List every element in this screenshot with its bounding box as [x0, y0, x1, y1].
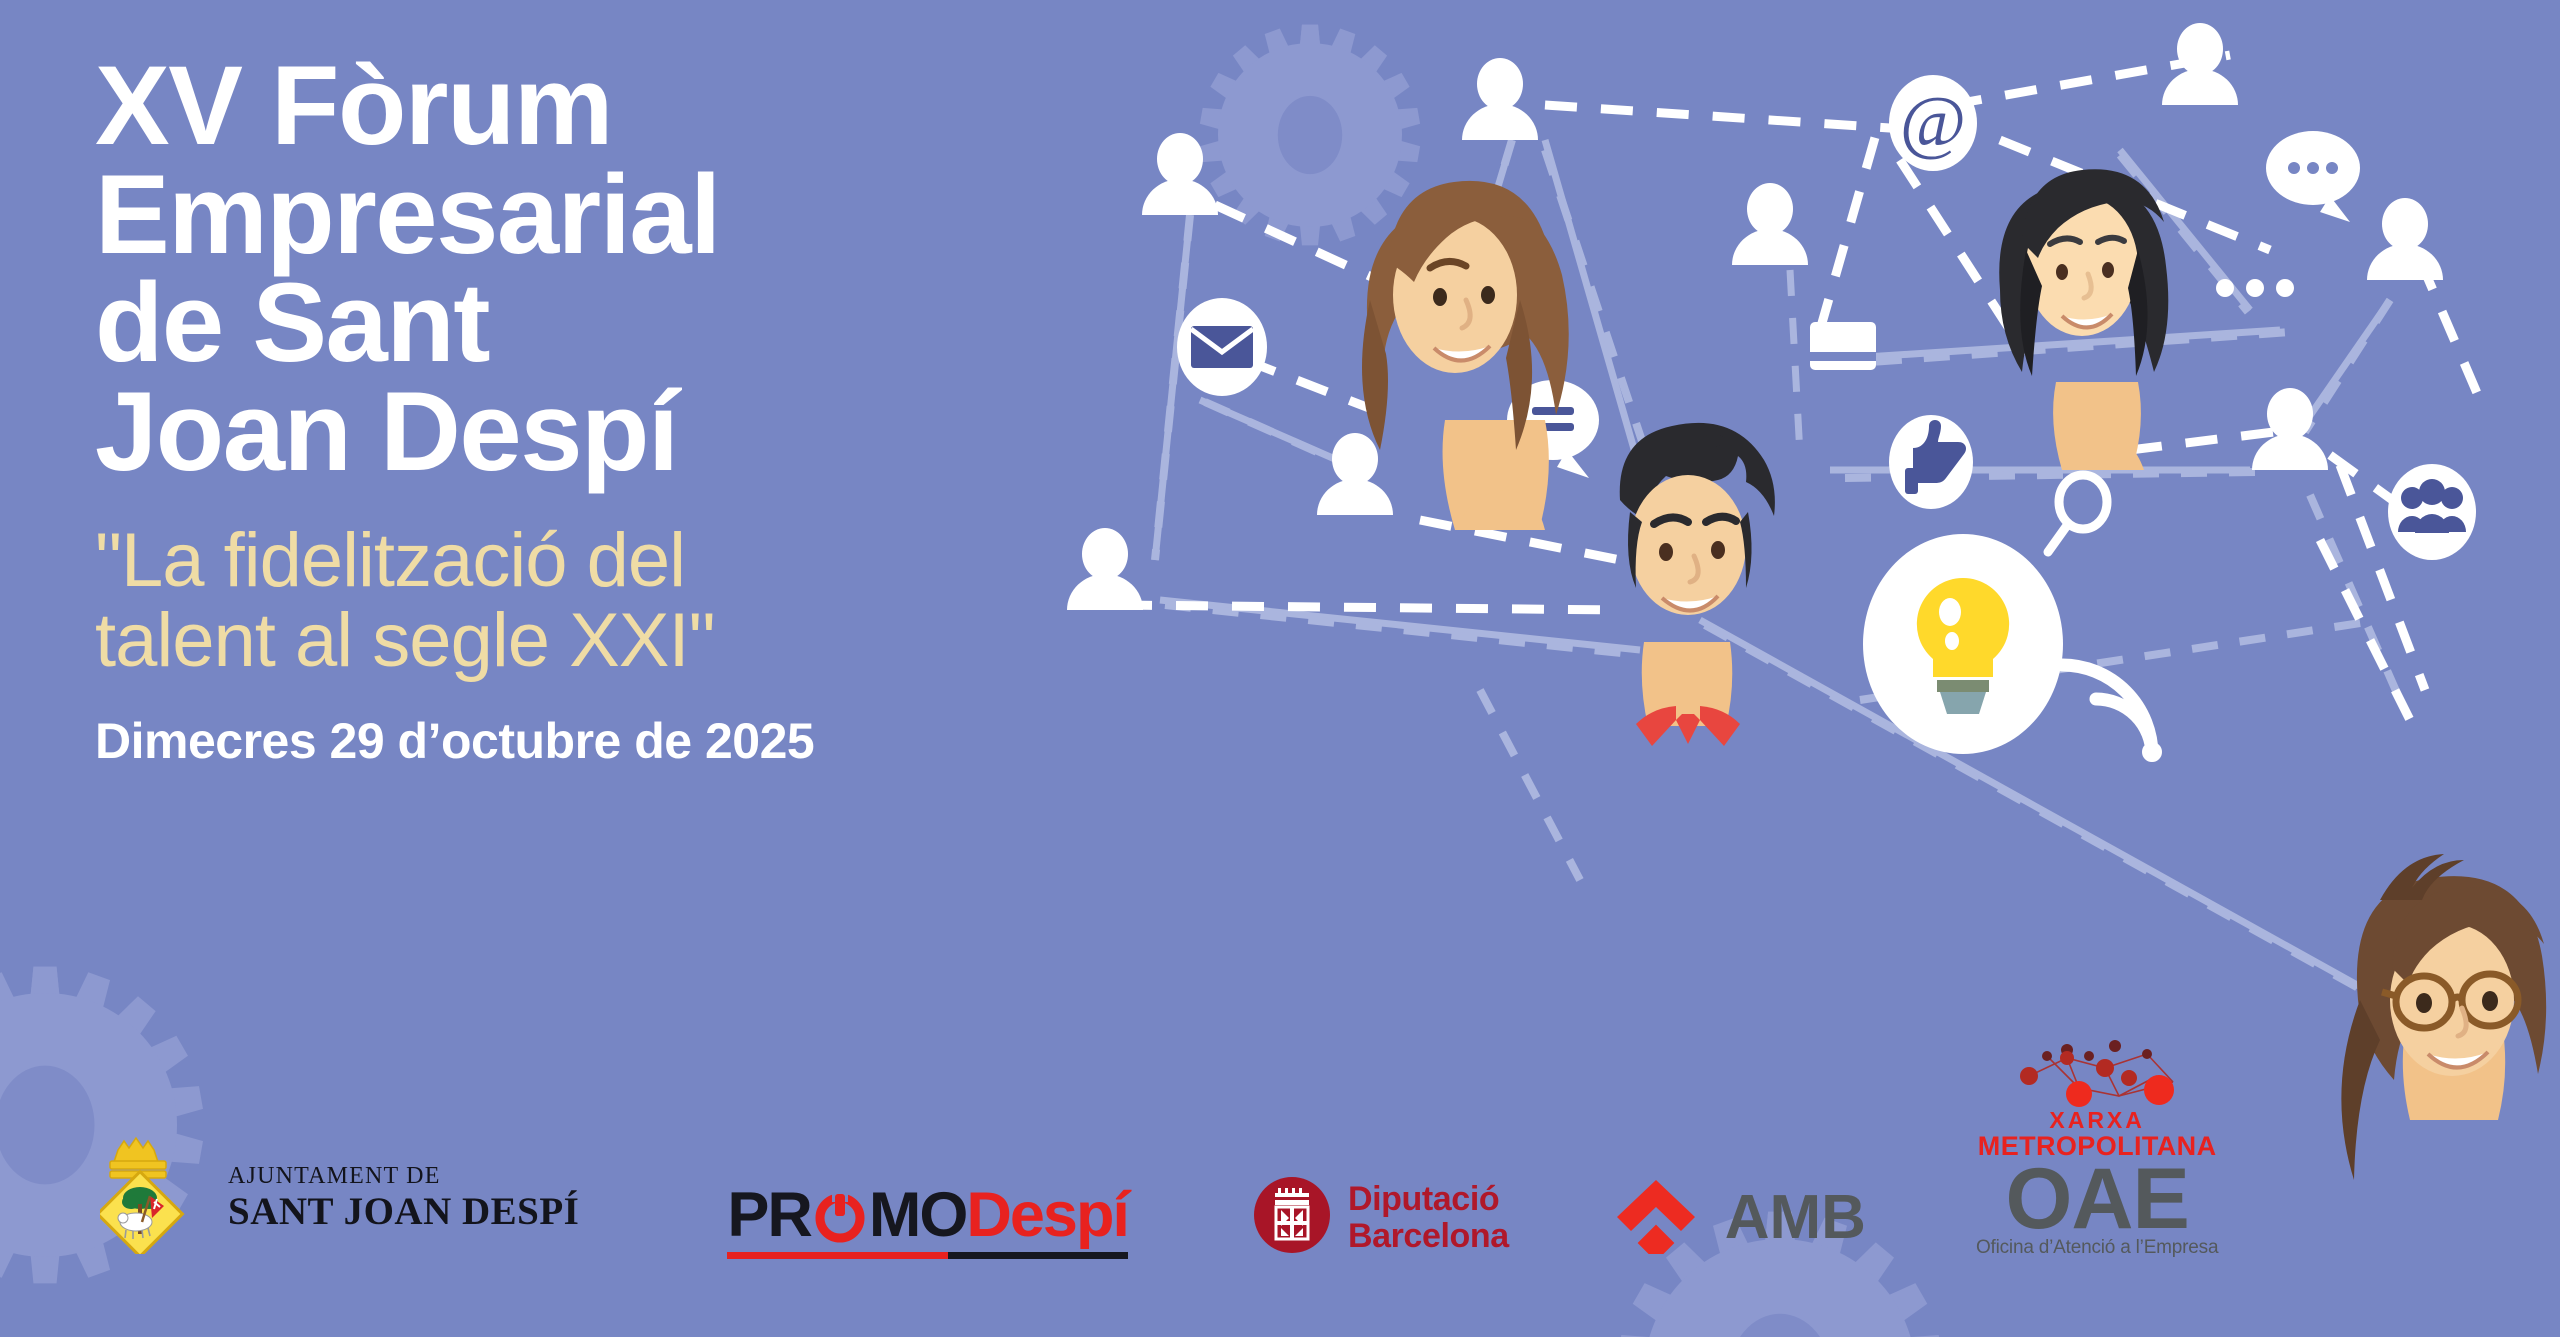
search-icon [2048, 475, 2107, 552]
power-button-o-icon [813, 1189, 867, 1243]
title-line-1: XV Fòrum [95, 43, 612, 168]
card-icon [1810, 322, 1876, 370]
people-group-icon [2388, 464, 2476, 560]
diputacio-line-1: Diputació [1348, 1181, 1509, 1218]
promo-part-red: Despí [966, 1184, 1128, 1247]
promo-part-dark2: MO [869, 1184, 966, 1247]
oae-acronym: OAE [2005, 1159, 2188, 1241]
event-date: Dimecres 29 d’octubre de 2025 [95, 682, 1125, 770]
barcelona-seal-icon [1253, 1176, 1331, 1259]
promo-part-dark: PR [727, 1184, 811, 1247]
amb-label: AMB [1725, 1182, 1866, 1253]
user-silhouette-icon [1142, 133, 1218, 215]
logo-promodespi[interactable]: PR MO Despí [727, 1184, 1128, 1259]
thumbs-up-icon [1889, 415, 1973, 509]
page-title: XV FòrumEmpresarialde SantJoan Despí [95, 52, 1125, 487]
at-sign-icon: @ [1889, 75, 1977, 171]
title-line-2: Empresarial [95, 152, 720, 277]
oae-tagline: Oficina d’Atenció a l’Empresa [1976, 1237, 2218, 1259]
logo-diputacio-barcelona[interactable]: Diputació Barcelona [1253, 1176, 1509, 1259]
user-silhouette-icon [1462, 58, 1538, 140]
sponsor-logo-strip: AJUNTAMENT DE SANT JOAN DESPÍ PR MO Desp… [100, 1036, 2218, 1259]
subtitle-line-2: talent al segle XXI" [95, 598, 715, 683]
speech-bubble-dots-icon [2266, 131, 2360, 222]
lightbulb-icon [1863, 534, 2063, 754]
ajuntament-line-small: AJUNTAMENT DE [228, 1164, 579, 1188]
title-line-4: Joan Despí [95, 369, 678, 494]
subtitle-line-1: "La fidelització del [95, 518, 685, 603]
avatar-man-red-shirt [1620, 423, 1775, 746]
poster-text-block: XV FòrumEmpresarialde SantJoan Despí "La… [95, 52, 1125, 770]
logo-ajuntament-sant-joan-despi[interactable]: AJUNTAMENT DE SANT JOAN DESPÍ [100, 1136, 579, 1259]
user-silhouette-icon [1732, 183, 1808, 265]
poster-canvas: @ [0, 0, 2560, 1337]
svg-text:@: @ [1900, 82, 1966, 162]
rss-icon [2062, 665, 2155, 755]
user-silhouette-icon [1317, 433, 1393, 515]
logo-oae[interactable]: XARXA METROPOLITANA OAE Oficina d’Atenci… [1976, 1036, 2218, 1259]
coat-of-arms-icon [100, 1136, 208, 1259]
diputacio-line-2: Barcelona [1348, 1218, 1509, 1255]
ajuntament-line-big: SANT JOAN DESPÍ [228, 1192, 579, 1231]
logo-amb[interactable]: AMB [1613, 1176, 1866, 1259]
avatar-woman-glasses [2341, 854, 2546, 1180]
avatar-woman-brown-hair [1362, 181, 1569, 530]
title-line-3: de Sant [95, 260, 489, 385]
ellipsis-icon [2216, 279, 2294, 297]
amb-chevron-icon [1613, 1176, 1699, 1259]
promo-underline [727, 1252, 1128, 1259]
user-silhouette-icon [2367, 198, 2443, 280]
avatar-woman-black-bob [1999, 169, 2168, 470]
poster-subtitle: "La fidelització deltalent al segle XXI" [95, 487, 1125, 682]
envelope-icon [1177, 298, 1267, 396]
oae-xarxa-label: XARXA [2049, 1109, 2145, 1132]
